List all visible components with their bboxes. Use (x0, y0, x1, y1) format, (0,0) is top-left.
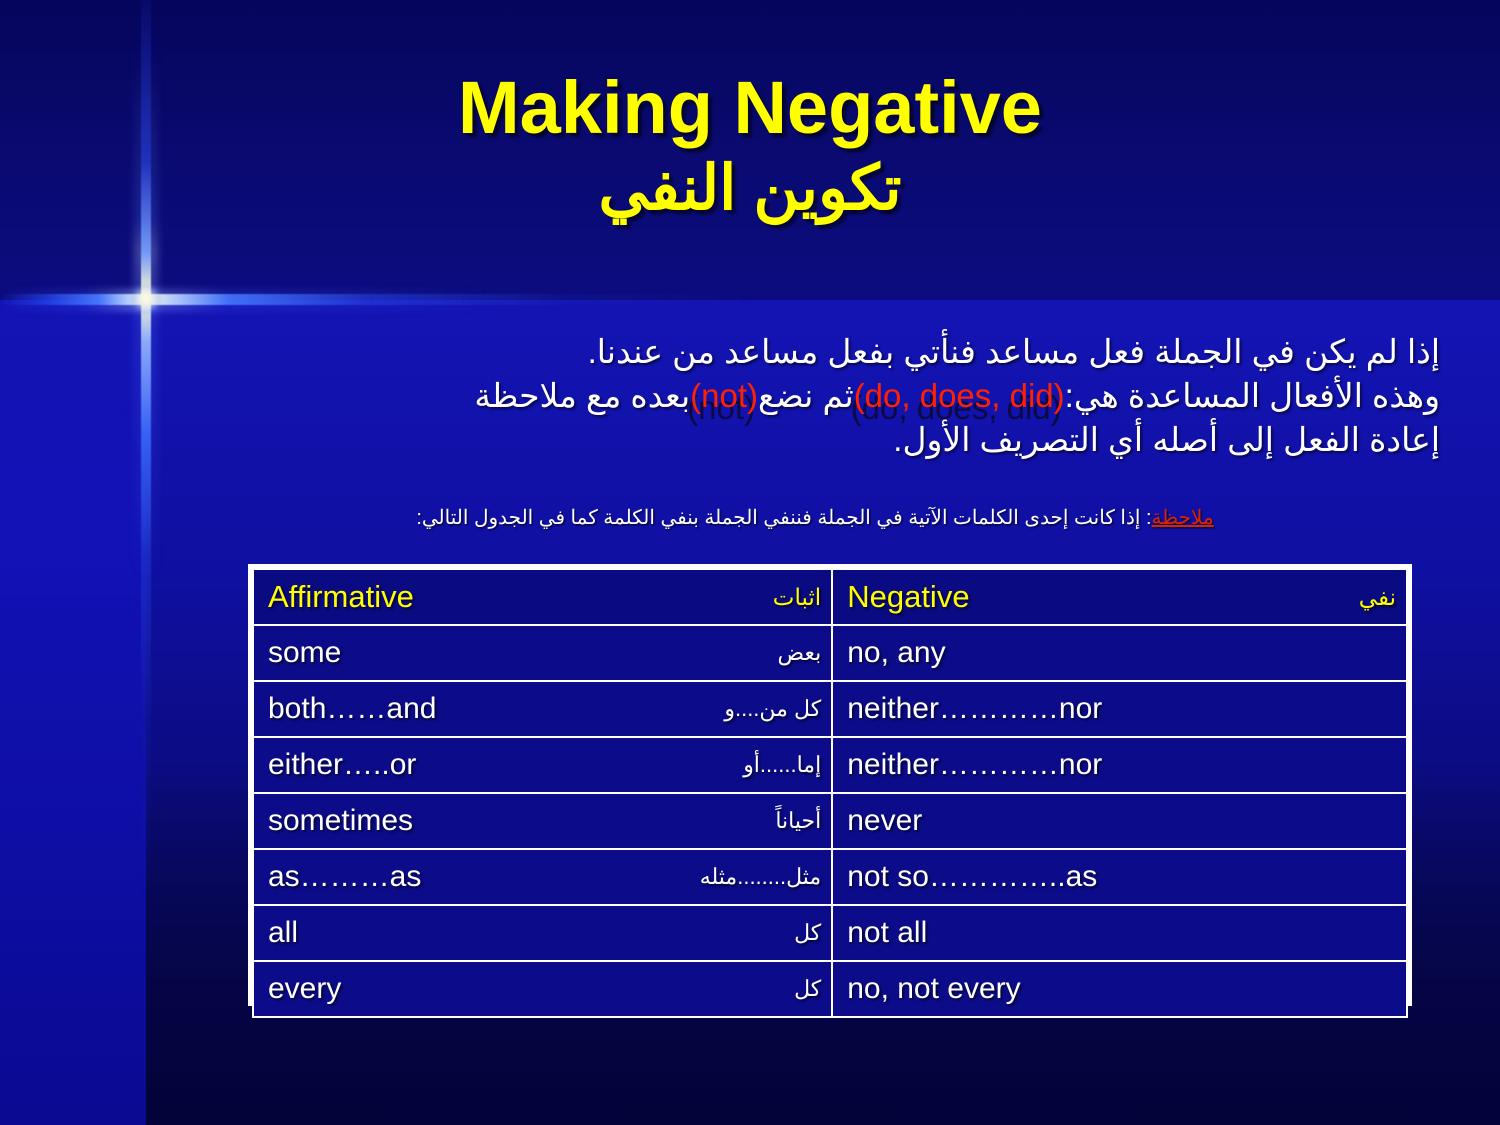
cell-negative: never (832, 793, 1407, 849)
title-english: Making Negative (0, 70, 1500, 145)
cell-negative: not so…………..as (832, 849, 1407, 905)
cell-affirmative: all كل (253, 905, 832, 961)
affirmative-term-en: either…..or (268, 748, 416, 782)
light-streak-horizontal (0, 294, 760, 305)
cell-negative-inner: not so…………..as (847, 860, 1396, 894)
header-affirmative-ar: اثبات (665, 584, 821, 611)
cell-affirmative-inner: all كل (268, 916, 821, 950)
affirmative-term-en: sometimes (268, 804, 413, 838)
affirmative-term-ar: إما......أو (635, 752, 821, 778)
affirmative-negative-table: Affirmative اثبات Negative نفي (248, 564, 1412, 1006)
affirmative-term-en: both……and (268, 692, 436, 726)
affirmative-term-ar: بعض (670, 640, 822, 666)
cell-affirmative-inner: some بعض (268, 636, 821, 670)
table-header-row: Affirmative اثبات Negative نفي (253, 569, 1407, 625)
affirmative-term-en: all (268, 916, 298, 950)
table-grid: Affirmative اثبات Negative نفي (252, 568, 1408, 1018)
cell-negative-inner: no, not every (847, 972, 1396, 1006)
body-line-1: إذا لم يكن في الجملة فعل مساعد فنأتي بفع… (210, 330, 1440, 374)
header-cell-negative: Negative نفي (832, 569, 1407, 625)
cell-negative: no, any (832, 625, 1407, 681)
negative-term-en: not so…………..as (847, 860, 1097, 894)
header-negative-en: Negative (847, 579, 969, 615)
note-label: ملاحظة (1152, 507, 1214, 529)
cell-negative: no, not every (832, 961, 1407, 1017)
cell-negative-inner: no, any (847, 636, 1396, 670)
affirmative-term-ar: كل (686, 920, 821, 946)
header-cell-affirmative: Affirmative اثبات (253, 569, 832, 625)
body-line-2: وهذه الأفعال المساعدة هي:(do, does, did)… (210, 374, 1440, 418)
cell-affirmative-inner: sometimes أحياناً (268, 804, 821, 838)
table-row: every كل no, not every (253, 961, 1407, 1017)
body-line-2-part-c: بعده مع ملاحظة (474, 377, 690, 414)
header-negative-ar: نفي (1251, 584, 1396, 611)
affirmative-term-en: every (268, 972, 341, 1006)
light-streak-center-glow (131, 284, 161, 314)
table-row: both……and كل من....و neither…………nor (253, 681, 1407, 737)
header-negative-inner: Negative نفي (847, 579, 1396, 615)
table-body: Affirmative اثبات Negative نفي (253, 569, 1407, 1017)
cell-negative-inner: not all (847, 916, 1396, 950)
cell-affirmative: every كل (253, 961, 832, 1017)
table-row: all كل not all (253, 905, 1407, 961)
cell-negative-inner: never (847, 804, 1396, 838)
affirmative-term-ar: مثل........مثله (592, 864, 821, 890)
note-text: : إذا كانت إحدى الكلمات الآتية في الجملة… (416, 507, 1151, 529)
background-left-band (0, 300, 146, 1125)
negative-term-en: neither…………nor (847, 748, 1102, 782)
auxiliary-verbs-term: (do, does, did) (854, 374, 1065, 418)
negative-term-en: not all (847, 916, 927, 950)
note-line: ملاحظة: إذا كانت إحدى الكلمات الآتية في … (200, 505, 1430, 530)
not-term: (not) (690, 374, 758, 418)
affirmative-term-ar: أحياناً (667, 808, 821, 834)
cell-affirmative: sometimes أحياناً (253, 793, 832, 849)
cell-negative: not all (832, 905, 1407, 961)
affirmative-term-en: some (268, 636, 341, 670)
cell-negative-inner: neither…………nor (847, 692, 1396, 726)
cell-negative: neither…………nor (832, 737, 1407, 793)
header-affirmative-en: Affirmative (268, 579, 414, 615)
cell-affirmative: both……and كل من....و (253, 681, 832, 737)
affirmative-term-en: as………as (268, 860, 421, 894)
cell-negative: neither…………nor (832, 681, 1407, 737)
cell-affirmative: either…..or إما......أو (253, 737, 832, 793)
body-line-2-part-a: وهذه الأفعال المساعدة هي: (1065, 377, 1440, 414)
body-line-3: إعادة الفعل إلى أصله أي التصريف الأول. (210, 418, 1440, 462)
table-row: as………as مثل........مثله not so…………..as (253, 849, 1407, 905)
cell-affirmative: some بعض (253, 625, 832, 681)
affirmative-term-ar: كل من....و (616, 696, 821, 722)
body-line-2-part-b: ثم نضع (758, 377, 854, 414)
cell-affirmative: as………as مثل........مثله (253, 849, 832, 905)
cell-affirmative-inner: either…..or إما......أو (268, 748, 821, 782)
header-affirmative-inner: Affirmative اثبات (268, 579, 821, 615)
title-arabic: تكوين النفي (0, 147, 1500, 231)
negative-term-en: neither…………nor (847, 692, 1102, 726)
cell-affirmative-inner: both……and كل من....و (268, 692, 821, 726)
cell-negative-inner: neither…………nor (847, 748, 1396, 782)
table-row: either…..or إما......أو neither…………nor (253, 737, 1407, 793)
slide-canvas: Making Negative تكوين النفي إذا لم يكن ف… (0, 0, 1500, 1125)
negative-term-en: never (847, 804, 922, 838)
affirmative-term-ar: كل (686, 976, 821, 1002)
table-row: sometimes أحياناً never (253, 793, 1407, 849)
negative-term-en: no, not every (847, 972, 1020, 1006)
table-row: some بعض no, any (253, 625, 1407, 681)
cell-affirmative-inner: as………as مثل........مثله (268, 860, 821, 894)
body-paragraph: إذا لم يكن في الجملة فعل مساعد فنأتي بفع… (210, 330, 1440, 462)
negative-term-en: no, any (847, 636, 945, 670)
slide-title-block: Making Negative تكوين النفي (0, 70, 1500, 231)
cell-affirmative-inner: every كل (268, 972, 821, 1006)
